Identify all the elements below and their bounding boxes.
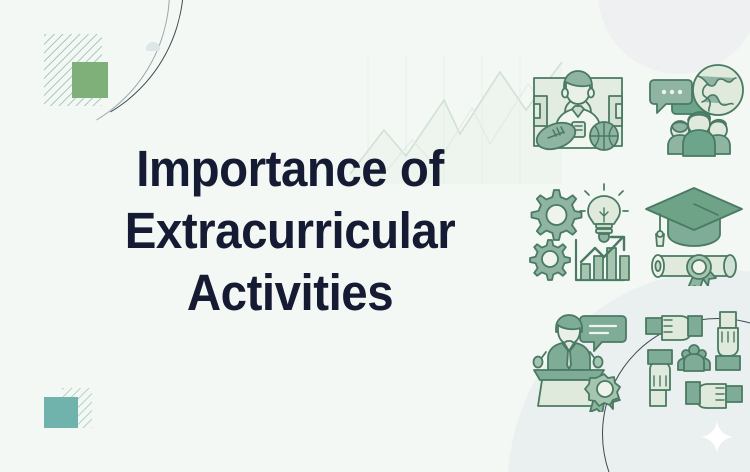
icon-cell-communication (640, 52, 748, 164)
graduation-cap-icon (642, 182, 746, 286)
sparkle-star-icon (700, 420, 734, 454)
icon-cell-graduation (640, 178, 748, 290)
icon-cell-teamwork (640, 304, 748, 416)
teamwork-hands-icon (642, 308, 746, 412)
icon-cell-leadership (524, 304, 632, 416)
sports-athlete-icon (526, 56, 630, 160)
icon-cell-sports (524, 52, 632, 164)
page-title: Importance of Extracurricular Activities (60, 138, 520, 324)
public-speaking-icon (526, 308, 630, 412)
communication-globe-icon (642, 56, 746, 160)
skills-growth-icon (526, 182, 630, 286)
title-line-2: Extracurricular (76, 200, 504, 262)
icon-grid (524, 52, 748, 420)
title-line-1: Importance of (76, 138, 504, 200)
square-green-shape (72, 62, 108, 98)
square-teal-shape (44, 397, 78, 428)
hatch-lines-top-icon (44, 34, 102, 106)
icon-cell-skills (524, 178, 632, 290)
small-bump-shape (146, 42, 160, 51)
title-line-3: Activities (76, 262, 504, 324)
hatch-lines-bottom-icon (62, 388, 92, 428)
poster-canvas: Importance of Extracurricular Activities (0, 0, 750, 472)
